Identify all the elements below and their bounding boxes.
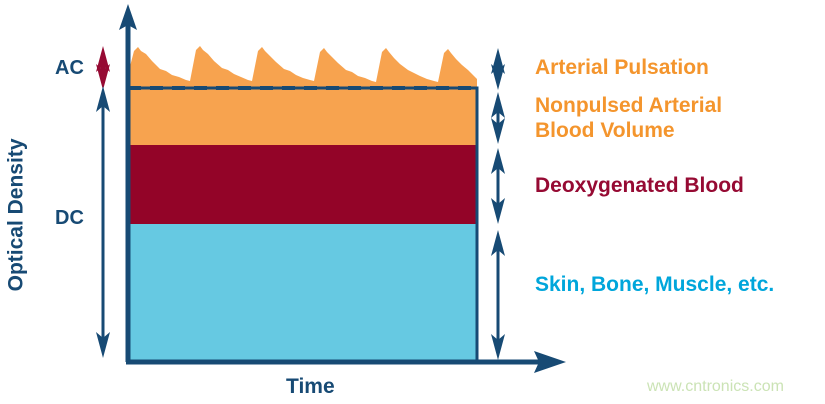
axis-label-y-text: Optical Density <box>5 141 30 291</box>
ac-measure-arrow <box>96 46 110 90</box>
watermark-text: www.cntronics.com <box>647 378 784 397</box>
axis-label-x: Time <box>286 375 335 400</box>
dc-measure-arrow <box>96 86 110 358</box>
layer-nonpulsed-arterial-blood-volume <box>128 88 477 145</box>
layer-skin-bone-muscle <box>128 224 477 362</box>
dc-bracket-label: DC <box>55 207 84 231</box>
segment-arrow-deoxygenated-blood <box>491 148 505 224</box>
axis-label-y: Optical Density <box>0 140 34 290</box>
segment-arrow-skin-bone-muscle <box>491 230 505 360</box>
ac-bracket-label: AC <box>55 57 84 81</box>
legend-item-nonpulsed-line-2: Blood Volume <box>535 119 722 144</box>
legend-item-skin-bone-muscle: Skin, Bone, Muscle, etc. <box>535 273 774 298</box>
layer-deoxygenated-blood <box>128 145 477 224</box>
segment-arrow-arterial-pulsation <box>491 48 505 90</box>
stacked-bar-layers <box>128 46 477 362</box>
legend-item-arterial-pulsation: Arterial Pulsation <box>535 56 709 81</box>
legend-item-nonpulsed-arterial-blood-volume: Nonpulsed Arterial Blood Volume <box>535 94 722 144</box>
pulse-oximetry-optical-density-diagram: Optical Density Time AC DC Arterial Puls… <box>0 0 825 404</box>
legend-item-deoxygenated-blood: Deoxygenated Blood <box>535 174 744 199</box>
layer-arterial-pulsation-waveform <box>128 46 477 88</box>
segment-arrow-nonpulsed-arterial-blood-volume <box>491 92 505 144</box>
legend-item-nonpulsed-line-1: Nonpulsed Arterial <box>535 94 722 119</box>
legend-segment-arrows <box>491 48 505 360</box>
